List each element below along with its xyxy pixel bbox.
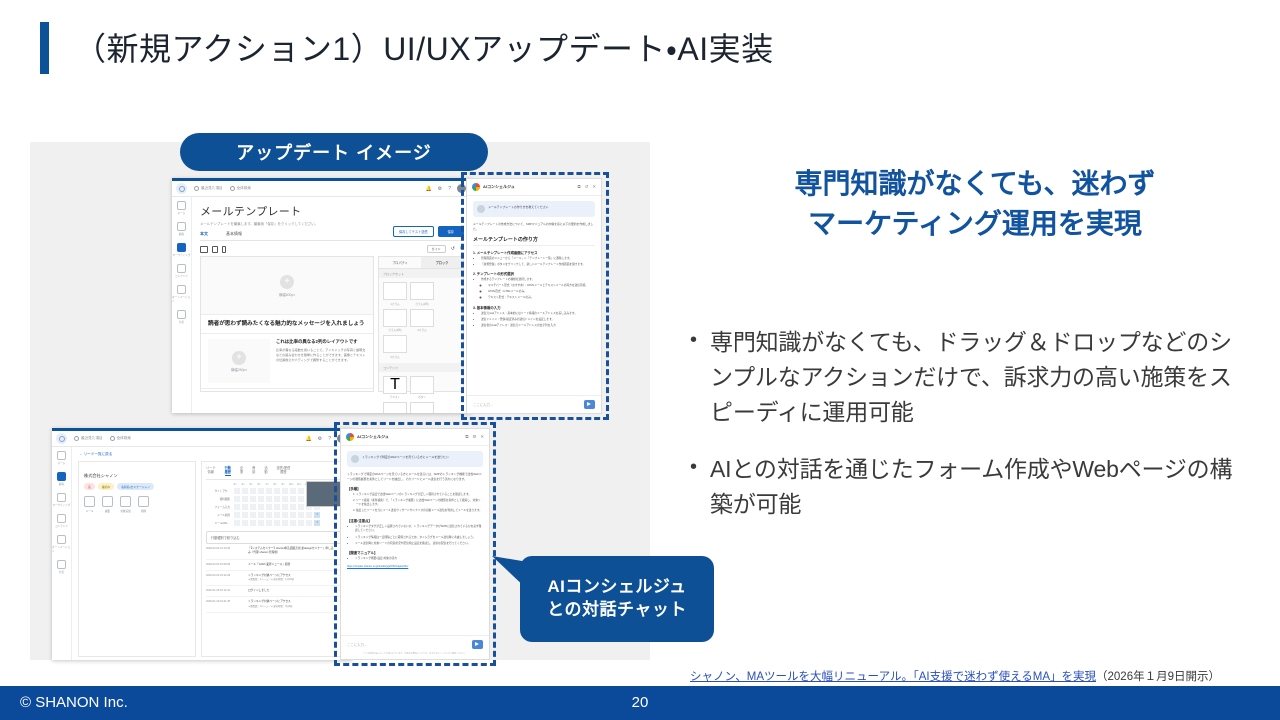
timeline-row[interactable]: 2026-02-02 16:34:29トラッキング対象ページにアクセス＊閲覧数：… (206, 571, 341, 586)
status-badge: 継続中 (98, 483, 114, 490)
heatmap-cell[interactable] (250, 504, 256, 510)
lead-chip-row: 高 継続中 名刺名・セミナーシャノ (84, 483, 190, 490)
app-header: 最近見た項目 全体検索 🔔 ⚙ ? (52, 431, 352, 447)
text-icon: T (383, 376, 407, 394)
ai-list-item: 管理画面のメニューから「メール」＞「テンプレート一覧」に遷移します。 (481, 257, 595, 262)
sidebar-item-automation[interactable]: オートメーション (52, 535, 71, 553)
ai-concierge-callout: AIコンシェルジュ との対話チャット (520, 556, 714, 642)
status-badge: 高 (84, 483, 95, 490)
heatmap-row-label: メールURL… (206, 521, 232, 525)
heatmap-cell[interactable] (242, 520, 248, 526)
ai-input-placeholder: ここに入力... (347, 642, 367, 647)
heatmap-cell[interactable] (234, 504, 240, 510)
heatmap-cell[interactable] (306, 512, 312, 518)
canvas-image-block[interactable]: 横幅600px (201, 257, 373, 315)
palette-grid-blockset: 1カラム カラム(2列) カラム(3列) 2カラム 3カラム (379, 278, 463, 363)
tab-deal[interactable]: 商 談 (252, 466, 255, 476)
palette-item[interactable]: ボタン (410, 376, 434, 400)
bullet-marker: • (690, 325, 697, 430)
editor-area: 横幅600px 読者が思わず読みたくなる魅力的なメッセージを入れましょう 横幅2… (200, 256, 464, 392)
add-image-icon (232, 351, 246, 365)
app-logo-icon (56, 433, 67, 444)
source-link[interactable]: シャノン、MAツールを大幅リニューアル。「AI支援で迷わず使えるMA」を実現 (690, 671, 1096, 683)
heatmap-row-label: サイトアク… (206, 489, 232, 493)
timeline-subtext: ＊閲覧数：3ページ／＊滞在時間：3分4秒 (248, 605, 334, 609)
lead-heading-line-1: 専門知識がなくても、迷わず (690, 164, 1260, 204)
close-icon[interactable]: ✕ (480, 434, 484, 440)
palette-item[interactable]: カラム(2列) (410, 282, 434, 306)
editor-toolbar: ガイド ↺ ↻ (200, 245, 464, 253)
ai-user-message: トラッキングで特定のWebページを見ている方にメールを送りたい (347, 451, 483, 467)
ai-input-placeholder: ここに入力... (473, 402, 493, 407)
ai-section-heading: 2. テンプレートの形式選択 (473, 271, 595, 276)
heatmap-cell[interactable] (274, 496, 280, 502)
palette-item[interactable]: カラム(3列) (383, 309, 407, 333)
heatmap-cell[interactable] (266, 520, 272, 526)
heatmap-col: 8m (272, 483, 278, 486)
tab-behavior-history[interactable]: 行動 履歴 (225, 466, 231, 476)
heatmap-cell[interactable] (298, 496, 304, 502)
heatmap-cell[interactable] (290, 496, 296, 502)
ai-step-item: 抽出したリードを元にメール送信ウィザードやシナリオの自動メール送信を利用してメー… (356, 509, 483, 514)
megaphone-icon (57, 493, 66, 502)
timeline-date: 2026-01-29 16:14:41 (206, 589, 244, 593)
callout-line-2: との対話チャット (547, 599, 687, 622)
sidebar-item-customers[interactable]: 顧客 (52, 472, 71, 486)
gear-icon[interactable]: ⚙ (472, 434, 476, 440)
lead-action-delete[interactable]: 削除 (138, 496, 149, 513)
toolbar-right: ガイド ↺ ↻ (427, 245, 464, 253)
heatmap-cell[interactable] (282, 496, 288, 502)
ai-panel-controls: ⧉ ↺ ✕ (577, 184, 596, 190)
guide-toggle[interactable]: ガイド (427, 245, 446, 253)
sidebar-item-marketing[interactable]: マーケティング (52, 493, 71, 507)
ai-cautions-list: トラッキングタグが正しく設置されていないか、トラッキングデータがSMPに送信され… (355, 525, 483, 546)
tab-activity[interactable]: 活 動 (264, 466, 267, 476)
heatmap-cell[interactable] (266, 512, 272, 518)
timeline-row[interactable]: 2026-01-29 16:14:41ログインしました⋯ (206, 586, 341, 597)
sidebar-item-marketing[interactable]: マーケティング (172, 243, 191, 257)
bullet-item: • AIとの対話を通じたフォーム作成やWebページの構築が可能 (690, 452, 1250, 522)
canvas-headline-block[interactable]: 読者が思わず読みたくなる魅力的なメッセージを入れましょう (201, 315, 373, 334)
lead-action-mail[interactable]: メール (84, 496, 95, 513)
heatmap-cell[interactable] (290, 488, 296, 494)
heatmap-cell[interactable]: 1 (314, 520, 320, 526)
source-reference: シャノン、MAツールを大幅リニューアル。「AI支援で迷わず使えるMA」を実現（2… (690, 668, 1270, 684)
sidebar-rail: ホーム 顧客 マーケティング コンテンツ オートメーション 分析 (172, 197, 192, 413)
ai-steps-list: トラッキング設定で該当Webページのトラッキングが正しく取得されていることを確認… (356, 493, 483, 514)
content-icon (177, 264, 186, 273)
clock-icon (74, 436, 79, 441)
send-icon[interactable] (584, 400, 595, 409)
app-body: ホーム 顧客 マーケティング コンテンツ オートメーション 分析 ← リード一覧… (52, 447, 352, 660)
lead-summary-card: 株式会社シャノン 高 継続中 名刺名・セミナーシャノ メール 編集 対象追加 削… (78, 461, 196, 657)
heatmap-cell[interactable] (282, 520, 288, 526)
sidebar-item-home[interactable]: ホーム (172, 201, 191, 215)
lead-action-edit[interactable]: 編集 (102, 496, 113, 513)
home-icon (57, 451, 66, 460)
help-icon[interactable]: ? (448, 186, 451, 192)
save-button[interactable]: 保存 (438, 226, 464, 237)
mobile-preview-icon[interactable] (222, 246, 226, 253)
email-canvas[interactable]: 横幅600px 読者が思わず読みたくなる魅力的なメッセージを入れましょう 横幅2… (200, 256, 374, 392)
ai-list-item: 作成するテンプレートの種類を選択します。 (481, 278, 595, 283)
heatmap-cell[interactable]: 1 (314, 512, 320, 518)
sidebar-item-customers[interactable]: 顧客 (172, 222, 191, 236)
grid-column-icon (383, 335, 407, 353)
tab-basic-info[interactable]: 基本情報 (226, 231, 242, 237)
bell-icon[interactable]: 🔔 (426, 186, 432, 192)
ai-conversation[interactable]: トラッキングで特定のWebページを見ている方にメールを送りたい トラッキングで特… (341, 446, 489, 635)
heatmap-cell[interactable] (290, 520, 296, 526)
heatmap-cell[interactable] (258, 496, 264, 502)
heatmap-cell[interactable] (266, 488, 272, 494)
main-content: ← リード一覧に戻る 株式会社シャノン 高 継続中 名刺名・セミナーシャノ メー… (72, 447, 352, 660)
app-window-lead-detail: 最近見た項目 全体検索 🔔 ⚙ ? ホーム 顧客 マーケティング コンテンツ オ… (52, 428, 352, 660)
timeline-date: 2026-01-29 16:31:45 (206, 600, 244, 608)
clock-icon (194, 186, 199, 191)
tab-blocks[interactable]: ブロック (421, 257, 463, 268)
tab-properties[interactable]: プロパティ (379, 257, 421, 268)
heatmap-cell[interactable] (234, 488, 240, 494)
slide-footer: © SHANON Inc. 20 (0, 686, 1280, 720)
ai-caution-item: メール送信時に対象リードの同意状況や配信停止設定を確認し、適切な配信を行ってくだ… (355, 542, 483, 547)
ai-steps-heading: 【手順】 (347, 486, 483, 491)
tablet-preview-icon[interactable] (212, 246, 218, 253)
app-window-mail-template: 最近見た項目 全体検索 🔔 ⚙ ? ホーム 顧客 マーケティング コンテンツ オ… (172, 178, 472, 413)
ai-caution-item: トラッキングタグが正しく設置されていないか、トラッキングデータがSMPに送信され… (355, 525, 483, 534)
block-palette: プロパティ ブロック ブロックセット 1カラム カラム(2列) カラム(3列) … (378, 256, 464, 392)
help-icon[interactable]: ? (328, 436, 331, 442)
lead-action-row: メール 編集 対象追加 削除 (84, 496, 190, 513)
megaphone-icon (177, 243, 186, 252)
heatmap-cell[interactable] (250, 520, 256, 526)
slide-root: （新規アクション1）UI/UXアップデート・AI実装 アップデート イメージ 最… (0, 0, 1280, 720)
ai-panel-controls: ⧉ ⚙ ✕ (465, 434, 484, 440)
heatmap-cell[interactable] (242, 488, 248, 494)
ai-panel-header: AIコンシェルジュ ⧉ ⚙ ✕ (341, 429, 489, 446)
heatmap-cell[interactable] (258, 488, 264, 494)
heatmap-col: 4m (240, 483, 246, 486)
heatmap-cell[interactable] (282, 512, 288, 518)
sidebar-item-automation[interactable]: オートメーション (172, 285, 191, 303)
person-icon (177, 222, 186, 231)
tab-company[interactable]: 企 業 (240, 466, 243, 476)
expand-icon[interactable]: ⧉ (577, 184, 580, 190)
main-content: メールテンプレート メールテンプレートを編集します。編集後「保存」をクリックして… (192, 197, 472, 413)
source-date: （2026年１月9日開示） (1096, 671, 1220, 683)
ai-list-item: 送信者のmailアドレス：送信元メールアドレスの文字列を入力 (481, 324, 595, 329)
ai-list-item: 送信ドメイン：登録・検証済みの送信ドメインを設定します。 (481, 318, 595, 323)
home-icon (177, 201, 186, 210)
page-title: （新規アクション1）UI/UXアップデート・AI実装 (74, 24, 774, 70)
heatmap-cell[interactable] (250, 488, 256, 494)
filter-label: 行動種別で絞り込む (211, 535, 240, 540)
search-icon (230, 186, 235, 191)
ai-chat-panel-top: AIコンシェルジュ ⧉ ↺ ✕ メールテンプレートの作り方を教えてください メー… (466, 178, 602, 414)
lead-heading: 専門知識がなくても、迷わず マーケティング運用を実現 (690, 164, 1260, 244)
ai-manual-item: トラッキング概要・設定・対象の流れ (355, 557, 483, 562)
ai-caution-item: トラッキング情報は一定間隔ごとに取得されるため、タイムラグをメール送信時に考慮し… (355, 536, 483, 541)
mail-icon (84, 496, 95, 507)
ai-sub-item: マルチパート形式（おすすめ）：HTMLメールとテキストメールの両方を送信可能。 (488, 284, 595, 289)
user-avatar (351, 455, 359, 463)
heatmap-row-label: メール開封 (206, 513, 232, 517)
bullet-item: • 専門知識がなくても、ドラッグ＆ドロップなどのシンプルなアクションだけで、訴求… (690, 325, 1250, 430)
tab-send-history[interactable]: 送信・配信 履歴 (277, 466, 291, 476)
heatmap-cell[interactable] (274, 512, 280, 518)
two-col-image: 横幅250px (208, 339, 270, 383)
palette-section-contents: コンテンツ (379, 363, 463, 372)
heatmap-cell[interactable] (242, 496, 248, 502)
bullet-text: AIとの対話を通じたフォーム作成やWebページの構築が可能 (710, 452, 1250, 522)
palette-item[interactable]: 2カラム (410, 309, 434, 333)
timeline-row[interactable]: 2026-02-03 16:59:09メール「120th 業界ニュース」開封⋯ (206, 560, 341, 571)
ai-input-bar[interactable]: ここに入力... (341, 635, 489, 653)
sidebar-item-contents[interactable]: コンテンツ (172, 264, 191, 278)
avatar[interactable] (457, 184, 466, 193)
content-icon (57, 514, 66, 523)
heatmap-cell[interactable] (266, 504, 272, 510)
gear-icon[interactable]: ⚙ (318, 436, 322, 442)
heatmap-cell[interactable] (298, 512, 304, 518)
one-column-icon (383, 282, 407, 300)
editor-tabs: 本文 基本情報 保存してテスト送信 保存 (200, 231, 464, 241)
close-icon[interactable]: ✕ (592, 184, 596, 190)
heatmap-row-label: 資料閲覧 (206, 497, 232, 501)
heatmap-col: 11m (296, 483, 302, 486)
heatmap-cell[interactable] (258, 520, 264, 526)
canvas-empty-block[interactable] (201, 389, 373, 392)
ai-manual-list: トラッキング概要・設定・対象の流れ (355, 557, 483, 562)
pencil-icon (102, 496, 113, 507)
test-send-button[interactable]: 保存してテスト送信 (393, 226, 434, 237)
recent-items-button[interactable]: 最近見た項目 (74, 436, 103, 441)
heatmap-col: 9m (280, 483, 286, 486)
bullet-marker: • (690, 452, 697, 522)
page-number: 20 (0, 694, 1280, 711)
ai-section-heading: 1. メールテンプレート作成画面にアクセス (473, 250, 595, 255)
ai-input-bar[interactable]: ここに入力... (467, 395, 601, 413)
timeline-row[interactable]: 2026-01-29 16:31:45トラッキング対象ページにアクセス＊閲覧数：… (206, 597, 341, 612)
tab-body[interactable]: 本文 (200, 231, 208, 237)
global-search-button[interactable]: 全体検索 (230, 186, 251, 191)
lead-heading-line-2: マーケティング運用を実現 (690, 204, 1260, 244)
heatmap-cell[interactable] (290, 504, 296, 510)
ai-section-list: 送信元mailアドレス：基本的にはリード情報のメールアドレスを差し込みます。 送… (481, 312, 595, 329)
lead-detail-columns: 株式会社シャノン 高 継続中 名刺名・セミナーシャノ メール 編集 対象追加 削… (72, 457, 352, 657)
refresh-icon[interactable]: ↺ (585, 184, 589, 190)
sidebar-item-analytics[interactable]: 分析 (52, 560, 71, 574)
sidebar-item-home[interactable]: ホーム (52, 451, 71, 465)
timeline-text: メール「120th 業界ニュース」開封 (248, 563, 334, 567)
canvas-two-column-block[interactable]: 横幅250px これは比率の異なる2列のレイアウトです 比率が異なる段数を用いる… (201, 334, 373, 389)
lead-action-add[interactable]: 対象追加 (120, 496, 131, 513)
heatmap-cell[interactable] (298, 488, 304, 494)
sidebar-item-analytics[interactable]: 分析 (172, 310, 191, 324)
ai-panel-title: AIコンシェルジュ (357, 434, 389, 440)
heatmap-row: メール開封1 (206, 512, 341, 518)
heatmap-cell[interactable] (298, 520, 304, 526)
two-col-text: 比率が異なる段数を用いることで、アイキャッチの写真と説明文などの組み合わせを簡単… (276, 348, 366, 364)
undo-icon[interactable]: ↺ (451, 246, 455, 252)
sidebar-item-contents[interactable]: コンテンツ (52, 514, 71, 528)
person-icon (57, 472, 66, 481)
trash-icon (138, 496, 149, 507)
timeline-text: 「【システムセミナー】Hoconi申込面販売用 新designセミナー」申し込み… (248, 547, 334, 556)
heatmap-cell[interactable] (274, 504, 280, 510)
global-search-button[interactable]: 全体検索 (110, 436, 131, 441)
two-col-title: これは比率の異なる2列のレイアウトです (276, 339, 366, 345)
ai-sub-list: マルチパート形式（おすすめ）：HTMLメールとテキストメールの両方を送信可能。 … (488, 284, 595, 301)
heatmap-row: メールURL…1 (206, 520, 341, 526)
timeline-text: ログインしました (248, 589, 334, 593)
ai-sub-item: HTML形式：HTMLメールのみ。 (488, 290, 595, 295)
sidebar-rail: ホーム 顧客 マーケティング コンテンツ オートメーション 分析 (52, 447, 72, 660)
bell-icon[interactable]: 🔔 (306, 436, 312, 442)
editor-action-buttons: 保存してテスト送信 保存 (393, 226, 464, 237)
ai-intro-text: トラッキングで特定のWebページを見ている方にメールを送るには、SMPのトラッキ… (347, 472, 483, 482)
heatmap-cell[interactable] (266, 496, 272, 502)
title-accent-bar (40, 22, 49, 74)
timeline-subtext: ＊閲覧数：1ページ／＊滞在時間：1分16秒 (248, 578, 334, 582)
add-target-icon (120, 496, 131, 507)
palette-item[interactable]: 区切り線 (410, 402, 434, 413)
heatmap-cell[interactable] (290, 512, 296, 518)
header-actions: 🔔 ⚙ ? (426, 184, 469, 193)
heatmap-col: 10m (288, 483, 294, 486)
ai-sub-item: テキスト形式：テキストメールのみ。 (488, 296, 595, 301)
ai-conversation[interactable]: メールテンプレートの作り方を教えてください メールテンプレートの作成方法について… (467, 196, 601, 395)
heatmap-cell[interactable] (242, 512, 248, 518)
activity-timeline: 2026-02-03 21:10:18「【システムセミナー】Hoconi申込面販… (206, 544, 341, 613)
palette-item[interactable]: 画像 (383, 402, 407, 413)
ai-disclaimer: ＊この回答はAIによって生成されています。内容の正確性については、必ず公式マニュ… (341, 653, 489, 659)
chart-icon (57, 560, 66, 569)
ai-chat-panel-bottom: AIコンシェルジュ ⧉ ⚙ ✕ トラッキングで特定のWebページを見ている方にメ… (340, 428, 490, 660)
heatmap-cell[interactable] (274, 488, 280, 494)
user-avatar (477, 205, 485, 213)
three-column-icon (383, 309, 407, 327)
heatmap-cell[interactable] (258, 504, 264, 510)
callout-line-1: AIコンシェルジュ (547, 576, 686, 599)
send-icon[interactable] (472, 640, 483, 649)
status-badge: 名刺名・セミナーシャノ (117, 483, 154, 490)
heatmap-cell[interactable] (274, 520, 280, 526)
ai-panel-title: AIコンシェルジュ (483, 184, 515, 190)
heatmap-col: 6m (256, 483, 262, 486)
palette-tabs: プロパティ ブロック (379, 257, 463, 269)
redo-icon[interactable]: ↻ (460, 246, 464, 252)
heatmap-cell[interactable] (282, 504, 288, 510)
divider-icon (410, 402, 434, 413)
search-icon (110, 436, 115, 441)
app-header: 最近見た項目 全体検索 🔔 ⚙ ? (172, 181, 472, 197)
heatmap-cell[interactable] (306, 520, 312, 526)
heatmap-cell[interactable] (282, 488, 288, 494)
timeline-date: 2026-02-03 21:10:18 (206, 547, 244, 556)
ai-logo-icon (346, 433, 354, 441)
button-icon (410, 376, 434, 394)
desktop-preview-icon[interactable] (200, 246, 208, 253)
heatmap-col: 7m (264, 483, 270, 486)
recent-items-button[interactable]: 最近見た項目 (194, 186, 223, 191)
palette-item[interactable]: 1カラム (383, 282, 407, 306)
heatmap-col: 5m (248, 483, 254, 486)
ai-list-item: 「新規登録」ボタンをクリックして、新しいメールテンプレート作成画面を開きます。 (481, 263, 595, 268)
ai-manual-link[interactable]: https://smpdoc.shanon.co.jp/tracking/ja/… (347, 565, 483, 568)
ai-section-list: 管理画面のメニューから「メール」＞「テンプレート一覧」に遷移します。 「新規登録… (481, 257, 595, 268)
bullet-list: • 専門知識がなくても、ドラッグ＆ドロップなどのシンプルなアクションだけで、訴求… (690, 325, 1250, 544)
lead-company-name: 株式会社シャノン (84, 473, 190, 479)
two-column-icon (410, 282, 434, 300)
automation-icon (177, 285, 186, 294)
heatmap-cell[interactable] (234, 496, 240, 502)
ai-cautions-heading: 【注意・注意点】 (347, 518, 483, 523)
ai-answer-heading: メールテンプレートの作り方 (473, 236, 595, 246)
ai-intro-text: メールテンプレートの作成方法について、SMPマニュアルの内容を基に以下の要約を作… (473, 222, 595, 232)
heatmap-cell[interactable] (250, 512, 256, 518)
ai-list-item: 送信元mailアドレス：基本的にはリード情報のメールアドレスを差し込みます。 (481, 312, 595, 317)
ai-logo-icon (472, 183, 480, 191)
timeline-date: 2026-02-03 16:59:09 (206, 563, 244, 567)
ai-user-message: メールテンプレートの作り方を教えてください (473, 201, 595, 217)
tab-lead-info[interactable]: リード 情報 (206, 466, 216, 476)
chart-icon (177, 310, 186, 319)
app-logo-icon (176, 183, 187, 194)
activity-filter-select[interactable]: 行動種別で絞り込む ⌄ (206, 531, 341, 544)
heatmap-cell[interactable] (242, 504, 248, 510)
ai-section-heading: 3. 基本情報の入力 (473, 305, 595, 310)
content-title: メールテンプレート (200, 203, 472, 219)
update-image-badge: アップデート イメージ (180, 133, 488, 171)
palette-item[interactable]: Tテキスト (383, 376, 407, 400)
palette-item[interactable]: 3カラム (383, 335, 407, 359)
add-image-icon (280, 275, 294, 289)
ai-step-item: トラッキング設定で該当Webページのトラッキングが正しく取得されていることを確認… (356, 493, 483, 498)
ai-panel-header: AIコンシェルジュ ⧉ ↺ ✕ (467, 179, 601, 196)
timeline-text: トラッキング対象ページにアクセス＊閲覧数：1ページ／＊滞在時間：1分16秒 (248, 574, 334, 582)
heatmap-col: 3m (232, 483, 238, 486)
ai-step-item: リード検索（条件検索）で、「トラッキング履歴」に該当Webページの閲覧を条件とし… (356, 499, 483, 508)
split-column-icon (410, 309, 434, 327)
timeline-row[interactable]: 2026-02-03 21:10:18「【システムセミナー】Hoconi申込面販… (206, 544, 341, 560)
timeline-text: トラッキング対象ページにアクセス＊閲覧数：3ページ／＊滞在時間：3分4秒 (248, 600, 334, 608)
bullet-text: 専門知識がなくても、ドラッグ＆ドロップなどのシンプルなアクションだけで、訴求力の… (710, 325, 1250, 430)
heatmap-cell[interactable] (234, 520, 240, 526)
ai-manual-heading: 【関連マニュアル】 (347, 550, 483, 555)
activity-tabs: リード 情報 行動 履歴 企 業 商 談 活 動 送信・配信 履歴 (206, 466, 341, 480)
app-body: ホーム 顧客 マーケティング コンテンツ オートメーション 分析 メールテンプレ… (172, 197, 472, 413)
gear-icon[interactable]: ⚙ (438, 186, 442, 192)
expand-icon[interactable]: ⧉ (465, 434, 468, 440)
palette-grid-contents: Tテキスト ボタン 画像 区切り線 余白 (379, 372, 463, 414)
heatmap-cell[interactable] (298, 504, 304, 510)
image-icon (383, 402, 407, 413)
automation-icon (57, 535, 66, 544)
heatmap-cell[interactable] (258, 512, 264, 518)
heatmap-row-label: フォーム入力 (206, 505, 232, 509)
timeline-date: 2026-02-02 16:34:29 (206, 574, 244, 582)
heatmap-cell[interactable] (250, 496, 256, 502)
chevron-down-icon: ⌄ (333, 535, 336, 539)
heatmap-cell[interactable] (234, 512, 240, 518)
palette-section-blockset: ブロックセット (379, 269, 463, 278)
ai-section-list: 作成するテンプレートの種類を選択します。 マルチパート形式（おすすめ）：HTML… (481, 278, 595, 301)
